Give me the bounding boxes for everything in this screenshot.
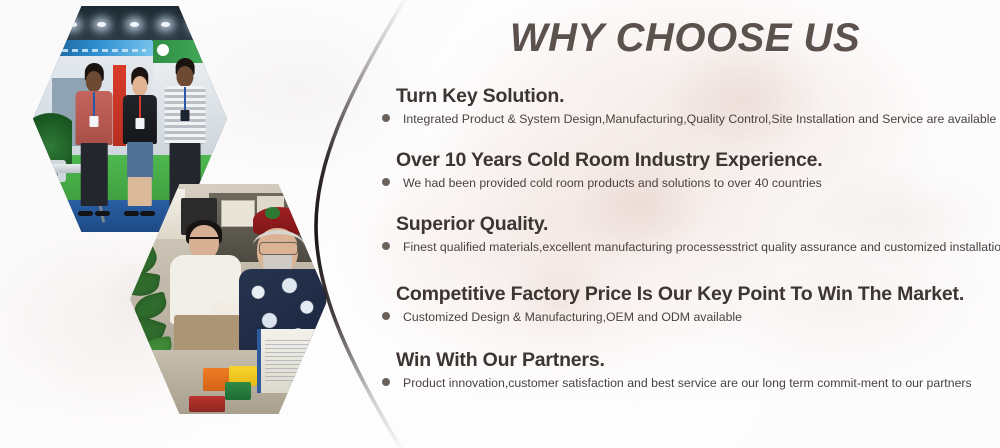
why-choose-us-banner: WHY CHOOSE US Turn Key Solution. Integra… bbox=[0, 0, 1000, 448]
bullet-icon bbox=[382, 242, 390, 250]
feature-description: Finest qualified materials,excellent man… bbox=[403, 240, 1000, 254]
bullet-icon bbox=[382, 378, 390, 386]
feature-description: We had been provided cold room products … bbox=[403, 176, 822, 190]
content-column: WHY CHOOSE US Turn Key Solution. Integra… bbox=[0, 0, 1000, 448]
feature-item-4: Competitive Factory Price Is Our Key Poi… bbox=[382, 284, 982, 326]
feature-item-3: Superior Quality. Finest qualified mater… bbox=[382, 214, 982, 256]
feature-item-2: Over 10 Years Cold Room Industry Experie… bbox=[382, 150, 982, 192]
feature-heading: Over 10 Years Cold Room Industry Experie… bbox=[396, 150, 982, 170]
page-title: WHY CHOOSE US bbox=[470, 16, 900, 61]
feature-item-1: Turn Key Solution. Integrated Product & … bbox=[382, 86, 982, 128]
feature-heading: Superior Quality. bbox=[396, 214, 982, 234]
bullet-icon bbox=[382, 312, 390, 320]
feature-description: Customized Design & Manufacturing,OEM an… bbox=[403, 310, 742, 324]
feature-description: Integrated Product & System Design,Manuf… bbox=[403, 112, 996, 126]
feature-item-5: Win With Our Partners. Product innovatio… bbox=[382, 350, 982, 392]
bullet-icon bbox=[382, 178, 390, 186]
bullet-icon bbox=[382, 114, 390, 122]
feature-heading: Turn Key Solution. bbox=[396, 86, 982, 106]
feature-description: Product innovation,customer satisfaction… bbox=[403, 376, 972, 390]
feature-heading: Competitive Factory Price Is Our Key Poi… bbox=[396, 284, 982, 304]
feature-heading: Win With Our Partners. bbox=[396, 350, 982, 370]
